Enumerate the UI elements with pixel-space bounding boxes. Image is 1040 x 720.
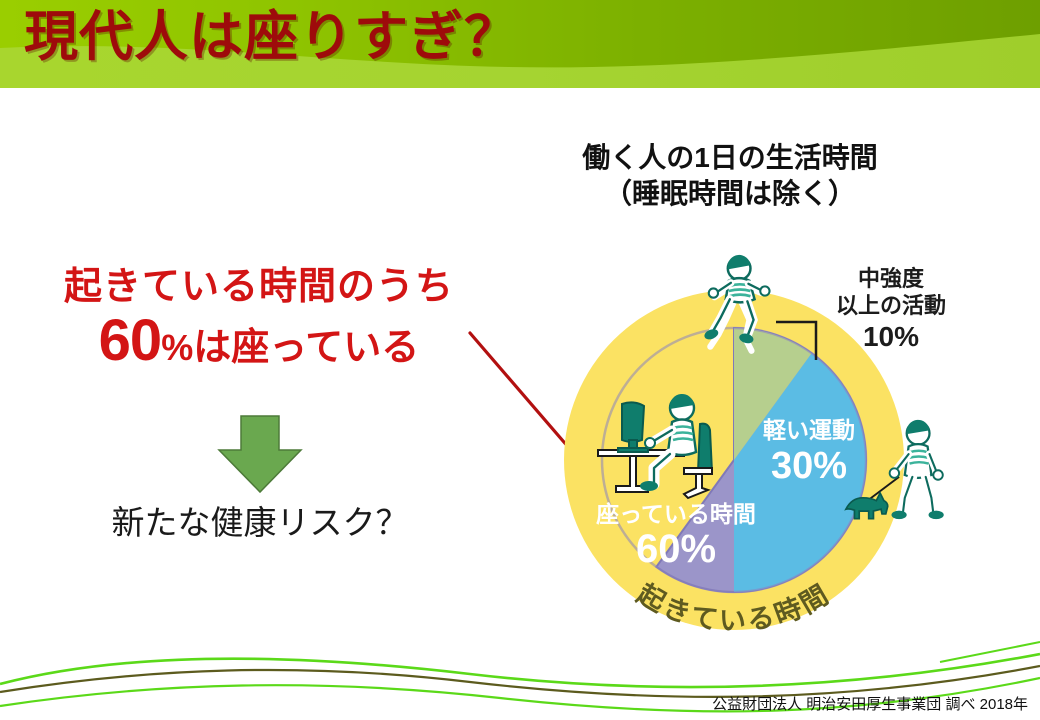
- source-credit: 公益財団法人 明治安田厚生事業団 調べ 2018年: [712, 693, 1028, 714]
- moderate-activity-callout: 中強度 以上の活動 10%: [806, 266, 976, 354]
- pie-label-sitting-text: 座っている時間: [596, 501, 756, 527]
- moderate-activity-value: 10%: [806, 320, 976, 354]
- red-callout-block: 起きている時間のうち 60%は座っている: [44, 266, 474, 369]
- callout-percent-sign: %: [161, 328, 193, 368]
- moderate-activity-line-1: 中強度: [806, 266, 976, 293]
- chart-title: 働く人の1日の生活時間 （睡眠時間は除く）: [520, 140, 940, 212]
- title-banner: 現代人は座りすぎ？: [0, 0, 1040, 92]
- down-arrow-icon: [215, 414, 305, 494]
- risk-question-text: 新たな健康リスク？: [60, 496, 460, 544]
- moderate-activity-line-2: 以上の活動: [806, 293, 976, 320]
- callout-line-2-rest: は座っている: [193, 327, 419, 370]
- page-title: 現代人は座りすぎ？: [24, 9, 519, 66]
- callout-line-1: 起きている時間のうち: [44, 266, 474, 309]
- pie-label-light-text: 軽い運動: [763, 417, 855, 443]
- pie-label-sitting-value: 60%: [636, 527, 716, 571]
- pie-label-light-exercise: 軽い運動 30%: [763, 417, 855, 487]
- chart-title-line-2: （睡眠時間は除く）: [520, 176, 940, 212]
- pie-label-light-value: 30%: [771, 445, 847, 487]
- callout-big-number: 60: [99, 313, 162, 368]
- slide-canvas: 現代人は座りすぎ？ 起きている時間のうち 60%は座っている 新たな健康リスク？…: [0, 0, 1040, 720]
- chart-title-line-1: 働く人の1日の生活時間: [520, 140, 940, 176]
- callout-line-2: 60%は座っている: [44, 313, 474, 370]
